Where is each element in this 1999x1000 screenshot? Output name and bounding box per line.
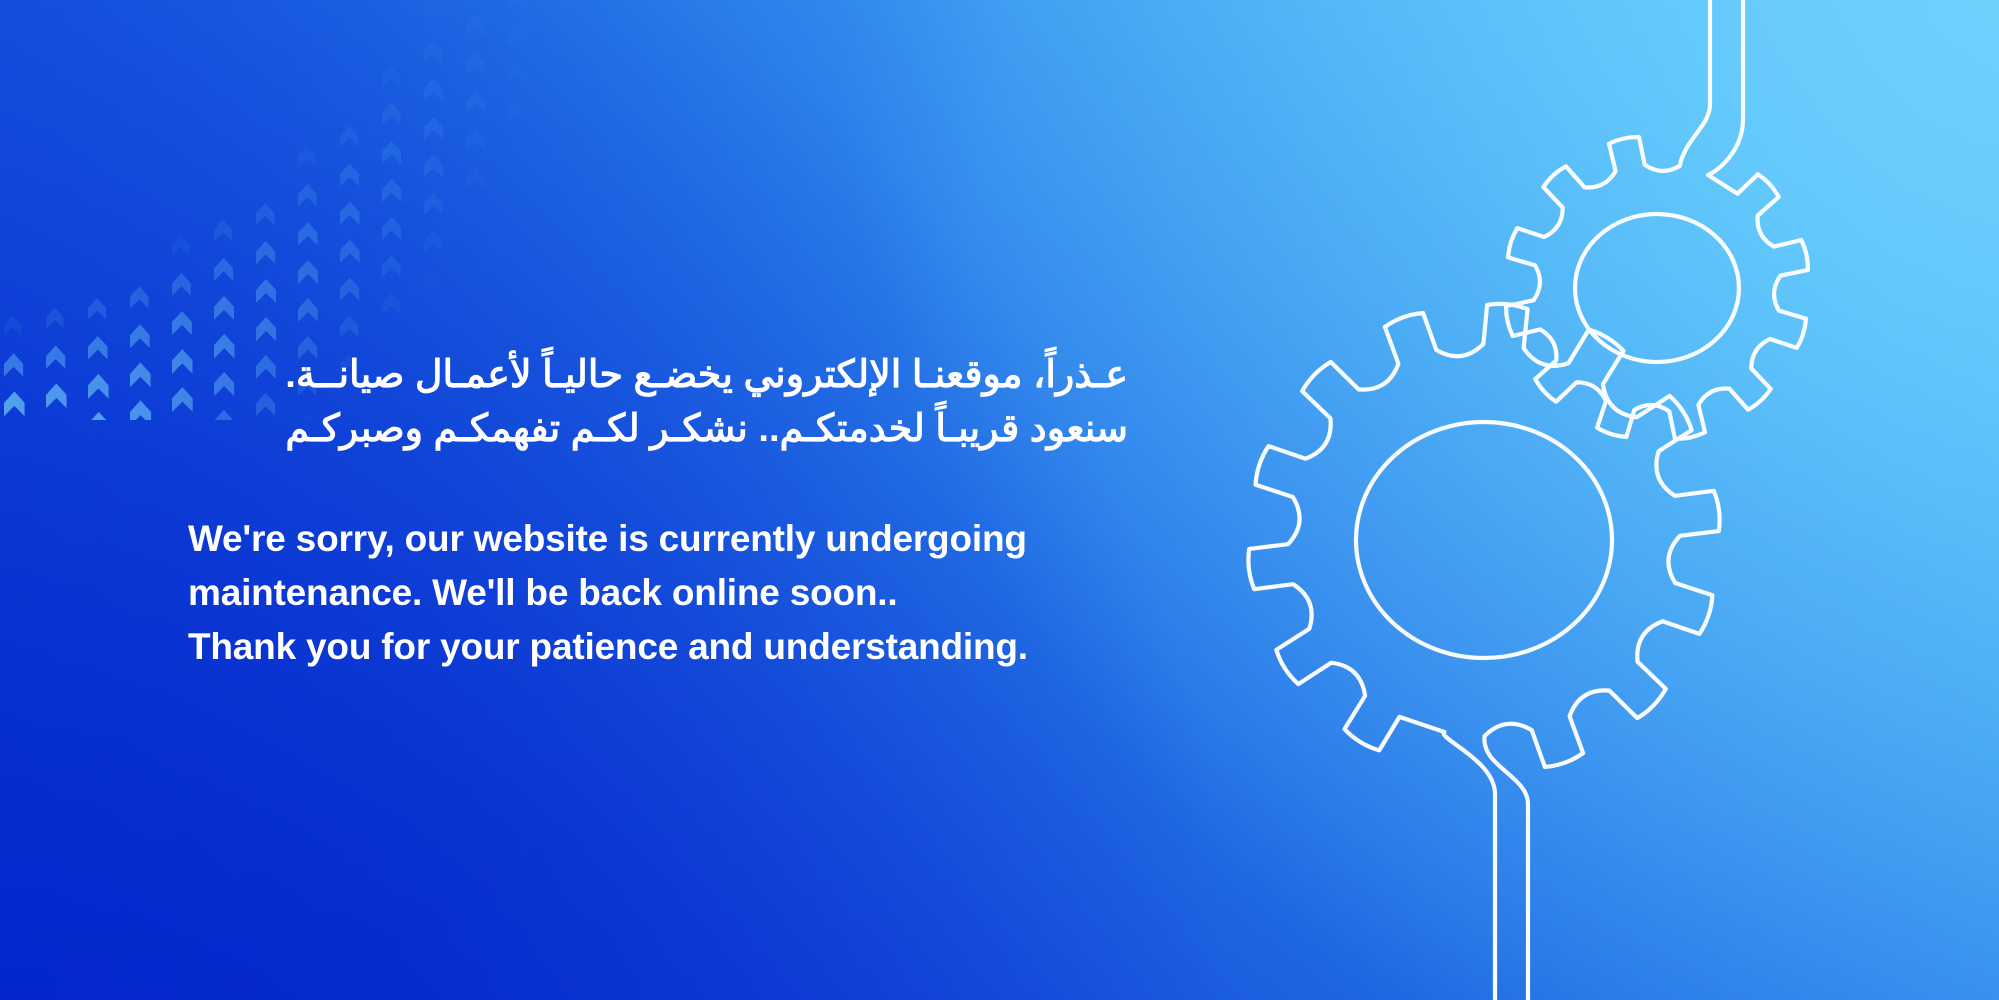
arabic-line-1: عـذراً، موقعنـا الإلكتروني يخضـع حاليـاً… [188, 348, 1128, 402]
arabic-message: عـذراً، موقعنـا الإلكتروني يخضـع حاليـاً… [188, 348, 1128, 456]
maintenance-message-block: عـذراً، موقعنـا الإلكتروني يخضـع حاليـاً… [188, 348, 1178, 674]
english-line-3: Thank you for your patience and understa… [188, 620, 1178, 674]
english-message: We're sorry, our website is currently un… [188, 512, 1178, 674]
english-line-1: We're sorry, our website is currently un… [188, 512, 1178, 566]
arabic-line-2: سنعود قريبـاً لخدمتكـم.. نشكـر لكـم تفهم… [188, 402, 1128, 456]
english-line-2: maintenance. We'll be back online soon.. [188, 566, 1178, 620]
